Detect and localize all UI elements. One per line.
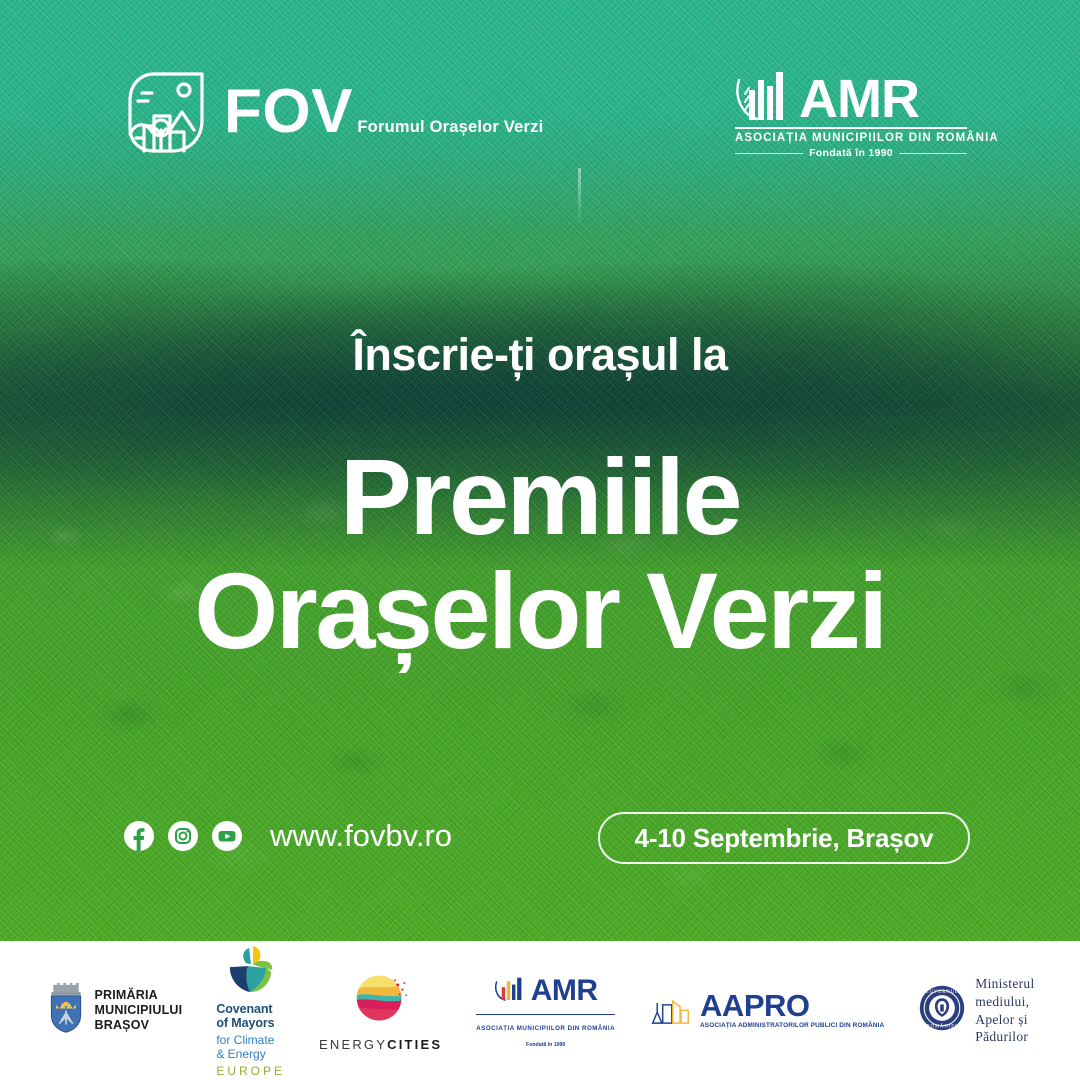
covenant-line2: for Climate & Energy bbox=[216, 1033, 285, 1061]
amr-founded-text: Fondată în 1990 bbox=[809, 147, 893, 159]
aapro-letters: AAPRO bbox=[700, 992, 884, 1020]
social-row: www.fovbv.ro bbox=[124, 818, 452, 854]
primaria-line1: PRIMĂRIA bbox=[95, 988, 183, 1003]
sponsor-footer: PRIMĂRIA MUNICIPIULUI BRAȘOV Covenant of… bbox=[0, 941, 1080, 1080]
sponsor-covenant-of-mayors[interactable]: Covenant of Mayors for Climate & Energy … bbox=[216, 944, 285, 1078]
amr-logo[interactable]: AMR ASOCIAȚIA MUNICIPIILOR DIN ROMÂNIA F… bbox=[735, 62, 967, 159]
leaf-city-icon bbox=[124, 68, 208, 156]
aapro-wordmark: AAPRO ASOCIAȚIA ADMINISTRATORILOR PUBLIC… bbox=[700, 992, 884, 1029]
amr-footer-divider bbox=[476, 1014, 615, 1015]
amr-footer-subtitle: ASOCIAȚIA MUNICIPIILOR DIN ROMÂNIA bbox=[476, 1025, 615, 1032]
date-location-badge: 4-10 Septembrie, Brașov bbox=[598, 812, 970, 864]
energy-cities-wordmark: ENERGYCITIES bbox=[319, 1037, 442, 1052]
fov-subtitle: Forumul Orașelor Verzi bbox=[357, 118, 543, 136]
covenant-leaf-icon bbox=[224, 944, 278, 999]
ministry-line1: Ministerul mediului, bbox=[975, 975, 1034, 1010]
amr-letters: AMR bbox=[799, 76, 919, 124]
fov-logo[interactable]: FOV Forumul Orașelor Verzi bbox=[124, 68, 543, 156]
sponsor-energy-cities[interactable]: ENERGYCITIES bbox=[319, 970, 442, 1052]
headline-title: Premiile Orașelor Verzi bbox=[0, 440, 1080, 669]
aapro-subtitle: ASOCIAȚIA ADMINISTRATORILOR PUBLICI DIN … bbox=[700, 1022, 884, 1029]
amr-buildings-icon bbox=[735, 64, 797, 124]
youtube-icon[interactable] bbox=[212, 821, 242, 851]
amr-footer-lockup: AMR bbox=[494, 973, 598, 1003]
covenant-line3: EUROPE bbox=[216, 1064, 285, 1078]
top-logo-row: FOV Forumul Orașelor Verzi AMR bbox=[0, 0, 1080, 190]
sponsor-primaria-brasov[interactable]: PRIMĂRIA MUNICIPIULUI BRAȘOV bbox=[46, 983, 183, 1039]
brasov-coat-of-arms-icon bbox=[46, 983, 86, 1039]
amr-footer-founded: Fondată în 1990 bbox=[526, 1042, 565, 1048]
amr-founded-rule-right bbox=[899, 153, 967, 154]
energy-cities-circle-icon bbox=[353, 970, 409, 1031]
government-seal-icon: GUVERNUL ROMÂNIEI bbox=[918, 984, 966, 1037]
fov-title: FOV bbox=[224, 77, 353, 146]
sponsor-ministry-environment[interactable]: GUVERNUL ROMÂNIEI Ministerul mediului, A… bbox=[918, 975, 1034, 1045]
amr-founded-row: Fondată în 1990 bbox=[735, 147, 967, 159]
instagram-icon[interactable] bbox=[168, 821, 198, 851]
headline-title-line2: Orașelor Verzi bbox=[0, 554, 1080, 668]
facebook-icon[interactable] bbox=[124, 821, 154, 851]
ministry-wordmark: Ministerul mediului, Apelor și Pădurilor bbox=[975, 975, 1034, 1045]
headline-block: Înscrie-ți orașul la Premiile Orașelor V… bbox=[0, 330, 1080, 668]
amr-footer-letters: AMR bbox=[531, 978, 598, 1004]
amr-founded-rule-left bbox=[735, 153, 803, 154]
poster: FOV Forumul Orașelor Verzi AMR bbox=[0, 0, 1080, 1080]
primaria-line3: BRAȘOV bbox=[95, 1018, 183, 1033]
ministry-line2: Apelor și Pădurilor bbox=[975, 1011, 1034, 1046]
amr-lockup: AMR bbox=[735, 62, 967, 124]
fov-wordmark: FOV Forumul Orașelor Verzi bbox=[224, 83, 543, 140]
covenant-line1: Covenant of Mayors bbox=[216, 1002, 285, 1030]
svg-text:GUVERNUL: GUVERNUL bbox=[926, 990, 960, 995]
headline-kicker: Înscrie-ți orașul la bbox=[0, 330, 1080, 380]
energy-cities-word1: ENERGY bbox=[319, 1037, 387, 1052]
sponsor-aapro[interactable]: AAPRO ASOCIAȚIA ADMINISTRATORILOR PUBLIC… bbox=[649, 992, 884, 1030]
primaria-line2: MUNICIPIULUI bbox=[95, 1003, 183, 1018]
amr-subtitle: ASOCIAȚIA MUNICIPIILOR DIN ROMÂNIA bbox=[735, 132, 967, 144]
sponsor-amr[interactable]: AMR ASOCIAȚIA MUNICIPIILOR DIN ROMÂNIA F… bbox=[476, 973, 615, 1048]
website-url[interactable]: www.fovbv.ro bbox=[270, 818, 452, 854]
svg-text:ROMÂNIEI: ROMÂNIEI bbox=[927, 1024, 958, 1030]
energy-cities-word2: CITIES bbox=[387, 1037, 442, 1052]
aapro-building-icon bbox=[649, 992, 691, 1030]
primaria-wordmark: PRIMĂRIA MUNICIPIULUI BRAȘOV bbox=[95, 988, 183, 1034]
headline-title-line1: Premiile bbox=[340, 436, 740, 557]
